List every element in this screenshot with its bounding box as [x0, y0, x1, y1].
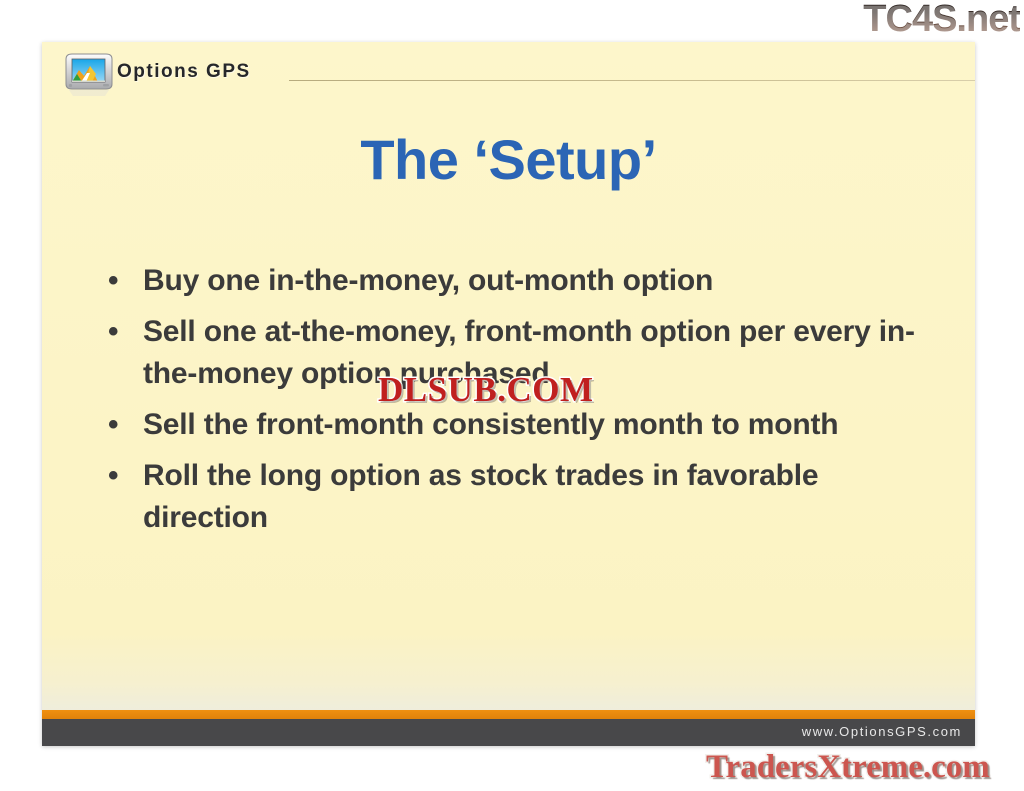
page-title: The ‘Setup’ [42, 128, 975, 192]
bullet-marker: • [108, 404, 118, 446]
footer-website-label: www.OptionsGPS.com [802, 724, 962, 739]
brand-name-label: Options GPS [117, 61, 251, 83]
list-item: • Roll the long option as stock trades i… [96, 455, 936, 539]
list-item-label: Sell the front-month consistently month … [143, 408, 838, 441]
footer-accent-bar [42, 710, 975, 719]
list-item: • Buy one in-the-money, out-month option [96, 260, 936, 302]
list-item: • Sell the front-month consistently mont… [96, 404, 936, 446]
bullet-marker: • [108, 311, 118, 353]
tradersxtreme-watermark: TradersXtreme.com [706, 748, 990, 786]
bullet-marker: • [108, 455, 118, 497]
bullet-marker: • [108, 260, 118, 302]
dlsub-watermark: DLSUB.COM [378, 371, 594, 409]
list-item-label: Buy one in-the-money, out-month option [143, 264, 713, 297]
gps-device-icon [62, 53, 116, 97]
tc4s-watermark: TC4S.net [863, 0, 1020, 40]
slide-header: Options GPS [42, 42, 975, 104]
header-divider [289, 80, 975, 81]
list-item-label: Roll the long option as stock trades in … [143, 459, 818, 534]
slide-footer: www.OptionsGPS.com [42, 719, 975, 746]
